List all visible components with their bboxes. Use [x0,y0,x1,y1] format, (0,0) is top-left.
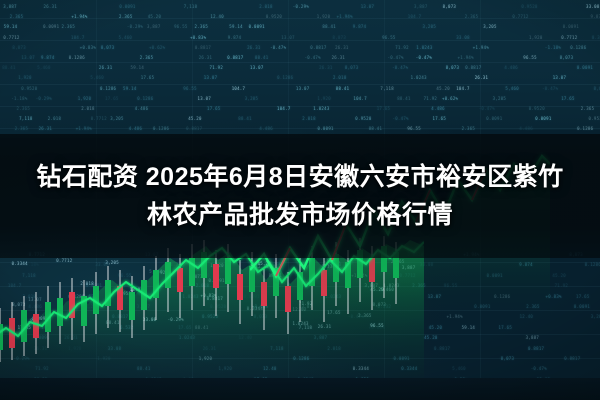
data-glyph: 0.9520 [589,116,600,121]
data-glyph: 9.874 [353,24,367,29]
data-glyph: 0.7712 [512,14,528,19]
data-glyph: 26.31 [319,65,333,70]
data-glyph: 5,460 [90,75,104,80]
data-glyph: 2.365 [15,126,29,131]
data-glyph: 0.8817 [227,55,243,60]
data-glyph: 0.1286 [577,126,593,131]
data-glyph: 0.3344 [592,35,600,40]
data-glyph: 8,073 [12,45,26,50]
data-glyph: 2.365 [17,106,31,111]
data-glyph: 1,920 [18,75,32,80]
data-glyph: 0.7712 [3,35,19,40]
data-glyph: 2.018 [302,116,316,121]
data-glyph: 0.0091 [577,65,593,70]
data-glyph: 4.486 [431,106,445,111]
data-glyph: 88.41 [397,96,411,101]
data-glyph: 0.8817 [434,346,450,351]
data-glyph: 0.9520 [521,4,537,9]
data-glyph: 17.65 [561,96,575,101]
data-glyph: -0.47% [393,116,409,121]
data-glyph: 12.40 [210,14,224,19]
data-glyph: 9.874 [228,35,242,40]
data-glyph: 104.7 [408,14,422,19]
data-glyph: 0.1286 [585,262,600,267]
data-glyph: 33.08 [586,4,600,9]
data-glyph: 0.8817 [195,45,211,50]
data-glyph: 71.92 [555,283,569,288]
data-glyph: -0.29% [127,24,143,29]
data-glyph: 26.31 [332,55,346,60]
data-glyph: 13.07 [296,86,310,91]
data-glyph: 3,205 [423,24,437,29]
data-glyph: -0.29% [293,4,309,9]
data-glyph: 7,118 [19,116,33,121]
data-glyph: 26.31 [335,45,349,50]
data-glyph: 17.65 [207,106,221,111]
data-glyph: 2.018 [333,75,347,80]
data-glyph: 5,460 [37,65,51,70]
data-glyph: 88.41 [322,24,336,29]
data-glyph: -0.47% [479,106,495,111]
data-glyph: 26.31 [199,55,213,60]
data-glyph: 0.0091 [486,116,502,121]
data-glyph: 0.0091 [249,24,265,29]
data-glyph: 8,073 [446,65,460,70]
data-glyph: 2.365 [195,24,209,29]
data-glyph: 96.55 [183,86,197,91]
data-glyph: 8,073 [333,35,347,40]
data-glyph: 4.486 [504,65,518,70]
data-glyph: 0.0091 [119,4,135,9]
data-glyph: 96.55 [523,55,537,60]
data-glyph: 17.65 [433,116,447,121]
data-glyph: 88.41 [238,116,252,121]
data-glyph: 5,460 [452,366,466,371]
data-glyph: 59.14 [4,24,18,29]
data-glyph: 104.7 [456,86,470,91]
data-glyph: +0.83% [190,35,206,40]
data-glyph: 17.65 [105,96,119,101]
title-line-2: 林农产品批发市场价格行情 [147,196,453,234]
data-glyph: 17.65 [576,294,590,299]
data-glyph: +1.94% [458,55,474,60]
data-glyph: 88.41 [2,65,16,70]
data-glyph: 1.0243 [416,45,432,50]
data-glyph: +0.62% [442,96,458,101]
data-glyph: 33.08 [456,35,470,40]
data-glyph: 0.1286 [570,45,586,50]
data-glyph: 26.31 [475,75,489,80]
data-glyph: 13.07 [250,65,264,70]
data-glyph: 88.41 [336,86,350,91]
data-glyph: -0.47% [542,86,558,91]
data-glyph: 0.9520 [529,106,545,111]
data-glyph: -0.47% [531,366,547,371]
data-glyph: 1,920 [78,96,92,101]
data-glyph: 71.92 [424,96,438,101]
data-glyph: 0.0091 [43,24,59,29]
data-glyph: 2.365 [581,106,595,111]
data-glyph: 71.92 [395,45,409,50]
data-glyph: 3,205 [245,96,259,101]
data-glyph: 59.14 [123,86,137,91]
data-glyph: 8,073 [443,4,457,9]
data-glyph: -1.18% [11,96,27,101]
data-glyph: 2.365 [62,24,76,29]
data-glyph: 0.0091 [574,304,590,309]
data-glyph: 45.20 [436,86,450,91]
data-glyph: 8,073 [560,55,574,60]
data-glyph: 88.41 [369,126,383,131]
data-glyph: 0.7712 [561,35,577,40]
data-glyph: 26.31 [99,65,113,70]
data-glyph: 1,920 [317,96,331,101]
data-glyph: 26.31 [44,4,58,9]
data-glyph: 45.20 [552,273,566,278]
data-glyph: 1.0243 [313,106,329,111]
data-glyph: 0.0091 [563,24,579,29]
data-glyph: 3,887 [147,24,161,29]
data-glyph: 26.31 [39,126,53,131]
data-glyph: +1.94% [473,45,489,50]
data-glyph: 3,887 [3,4,17,9]
data-glyph: 8,073 [101,45,115,50]
data-glyph: 104.7 [277,106,291,111]
data-glyph: 13.07 [281,35,295,40]
data-glyph: 3,887 [526,335,540,340]
data-glyph: 0.1286 [277,75,293,80]
data-glyph: 0.7712 [91,116,107,121]
data-glyph: -0.47% [305,55,321,60]
data-glyph: -0.47% [270,45,286,50]
data-glyph: 4.486 [129,126,143,131]
data-glyph: -0.47% [388,55,404,60]
data-glyph: 0.0091 [535,116,551,121]
data-glyph: 0.1286 [100,86,116,91]
data-glyph: -0.47% [416,55,432,60]
data-glyph: 0.9520 [355,116,371,121]
data-glyph: 5,460 [119,35,133,40]
data-glyph: 13.07 [204,75,218,80]
data-glyph: 0.1286 [153,126,169,131]
data-glyph: 59.14 [229,24,243,29]
title-line-1: 钻石配资 2025年6月8日安徽六安市裕安区紫竹 [36,158,563,196]
data-glyph: 13.07 [21,55,35,60]
banner-image: 3,88726.310.00917,1182.018-0.29%13.073,8… [0,0,600,400]
data-glyph: +0.83% [80,45,96,50]
data-glyph: 5,460 [505,86,519,91]
data-glyph: 59.14 [131,65,145,70]
data-glyph: 13.07 [553,75,567,80]
data-glyph: 96.55 [382,35,396,40]
data-glyph: 2.365 [10,14,24,19]
data-glyph: 1,920 [317,14,331,19]
data-glyph: 104.7 [353,96,367,101]
data-glyph: 45.20 [188,116,202,121]
background-bottom-strip [0,378,600,400]
data-glyph: 8,073 [345,65,359,70]
data-glyph: 2.365 [465,14,479,19]
data-glyph: 3,205 [110,116,124,121]
data-glyph: 2.365 [462,126,476,131]
data-glyph: 17.65 [499,325,513,330]
data-glyph: 71.92 [210,65,224,70]
banner-title: 钻石配资 2025年6月8日安徽六安市裕安区紫竹 林农产品批发市场价格行情 [0,134,600,258]
data-glyph: 2.018 [259,4,273,9]
data-glyph: 4.486 [135,106,149,111]
data-glyph: 0.8817 [564,356,580,361]
data-glyph: 0.1286 [69,55,85,60]
data-glyph: +0.62% [149,45,165,50]
data-glyph: 13.07 [361,4,375,9]
data-glyph: 0.9520 [21,86,37,91]
data-glyph: 4.486 [259,126,273,131]
data-glyph: 0.0091 [318,126,334,131]
data-glyph: 26.31 [247,45,261,50]
data-glyph: 2.365 [119,14,133,19]
data-glyph: 45.20 [148,14,162,19]
data-glyph: 9.874 [41,55,55,60]
data-glyph: 8,073 [501,356,515,361]
data-glyph: 3,205 [493,96,507,101]
data-glyph: 8,073 [594,86,600,91]
data-glyph: 0.8817 [186,126,202,131]
data-glyph: 0.9520 [266,14,282,19]
data-glyph: 96.55 [174,24,188,29]
data-glyph: 0.1286 [137,96,153,101]
data-glyph: 1,920 [529,35,543,40]
data-glyph: 0.8817 [465,65,481,70]
data-glyph: +1.94% [337,14,353,19]
data-glyph: 7,118 [380,86,394,91]
data-glyph: 96.55 [407,126,421,131]
data-glyph: 104.7 [232,86,246,91]
data-glyph: 3,205 [483,24,497,29]
data-glyph: 88.41 [255,55,269,60]
data-glyph: 45.20 [424,335,438,340]
data-glyph: 0.8817 [310,45,326,50]
data-glyph: 9.874 [591,14,600,19]
data-glyph: 104.7 [71,35,85,40]
data-glyph: 17.65 [141,75,155,80]
data-glyph: +1.94% [76,126,92,131]
data-glyph: 2.018 [81,106,95,111]
data-glyph: 2.365 [140,55,154,60]
data-glyph: 3,205 [591,314,600,319]
data-glyph: 1.0243 [411,75,427,80]
data-glyph: -0.29% [36,96,52,101]
data-glyph: 59.14 [462,325,476,330]
data-glyph: -1.18% [545,45,561,50]
data-glyph: 2.018 [48,116,62,121]
data-glyph: 4.486 [519,126,533,131]
data-glyph: 17.65 [377,106,391,111]
data-glyph: 3,887 [414,4,428,9]
data-glyph: -0.47% [392,65,408,70]
data-glyph: 45.20 [429,325,443,330]
data-glyph: 0.8817 [528,346,544,351]
data-glyph: 7,118 [184,4,198,9]
data-glyph: +1.94% [71,14,87,19]
data-glyph: 13.07 [198,96,212,101]
